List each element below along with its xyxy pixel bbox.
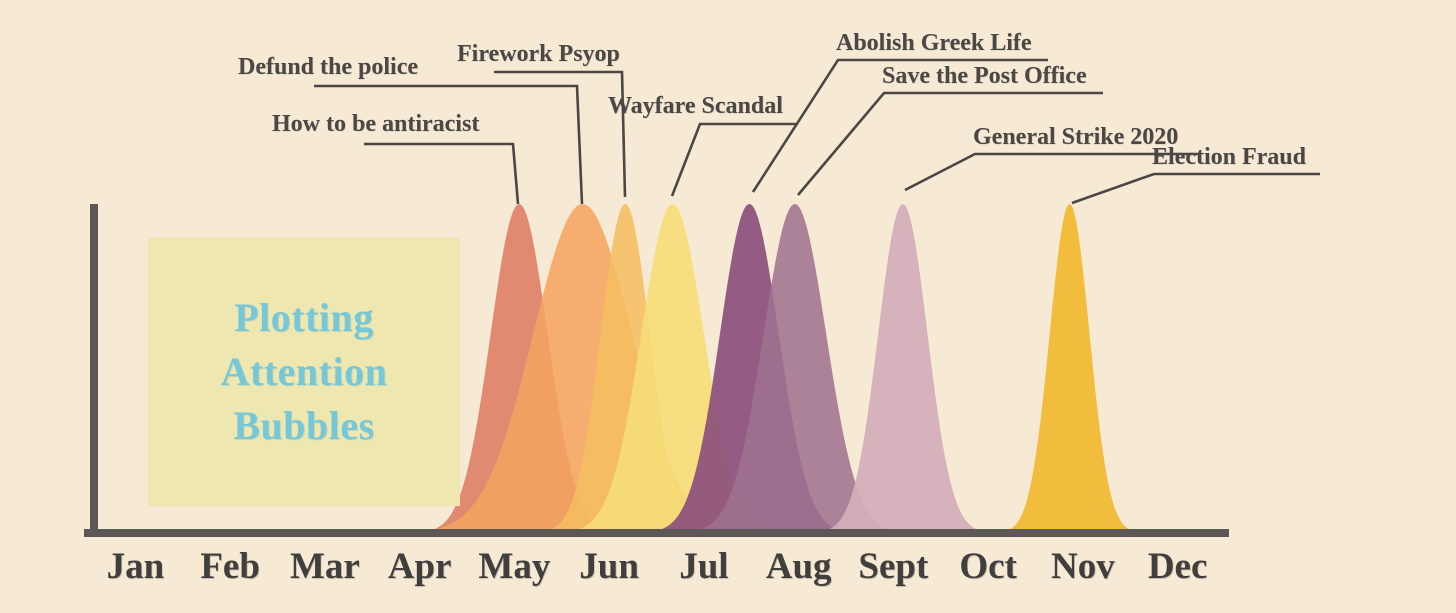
title-line-2: Attention	[221, 345, 388, 399]
attention-bubble	[986, 204, 1153, 533]
month-label-nov: Nov	[1036, 540, 1131, 600]
annotation-text: How to be antiracist	[272, 111, 479, 137]
annotation-text: General Strike 2020	[973, 124, 1178, 150]
month-label-oct: Oct	[941, 540, 1036, 600]
annotation-text: Defund the police	[238, 54, 418, 80]
month-label-may: May	[467, 540, 562, 600]
month-label-dec: Dec	[1130, 540, 1225, 600]
month-label-mar: Mar	[278, 540, 373, 600]
annotation-label-wayfare-scandal: Wayfare Scandal	[608, 93, 783, 120]
annotation-label-how-to-be-antiracist: How to be antiracist	[272, 111, 479, 138]
bubble-curves-layer	[376, 204, 1154, 533]
month-label-jun: Jun	[562, 540, 657, 600]
title-line-1: Plotting	[234, 291, 374, 345]
annotation-text: Election Fraud	[1152, 144, 1306, 170]
month-label-apr: Apr	[372, 540, 467, 600]
annotation-text: Wayfare Scandal	[608, 93, 783, 119]
annotation-label-election-fraud: Election Fraud	[1152, 144, 1306, 171]
annotation-label-defund-the-police: Defund the police	[238, 54, 418, 81]
leader-line-how-to-be-antiracist	[364, 144, 518, 204]
annotation-label-save-the-post-office: Save the Post Office	[882, 63, 1087, 90]
annotation-label-firework-psyop: Firework Psyop	[457, 41, 620, 68]
title-line-3: Bubbles	[233, 399, 374, 453]
annotation-text: Abolish Greek Life	[836, 30, 1032, 56]
title-card: Plotting Attention Bubbles	[148, 238, 460, 506]
annotation-text: Firework Psyop	[457, 41, 620, 67]
annotation-label-abolish-greek-life: Abolish Greek Life	[836, 30, 1032, 57]
leader-line-firework-psyop	[494, 72, 625, 197]
leader-line-wayfare-scandal	[672, 124, 798, 196]
x-axis-month-labels: JanFebMarAprMayJunJulAugSeptOctNovDec	[88, 540, 1225, 600]
month-label-jan: Jan	[88, 540, 183, 600]
leader-line-election-fraud	[1072, 174, 1320, 203]
month-label-feb: Feb	[183, 540, 278, 600]
annotation-label-general-strike-2020: General Strike 2020	[973, 124, 1178, 151]
month-label-sept: Sept	[846, 540, 941, 600]
month-label-aug: Aug	[751, 540, 846, 600]
annotation-text: Save the Post Office	[882, 63, 1087, 89]
month-label-jul: Jul	[657, 540, 752, 600]
attention-bubbles-chart: Plotting Attention Bubbles How to be ant…	[0, 0, 1456, 613]
